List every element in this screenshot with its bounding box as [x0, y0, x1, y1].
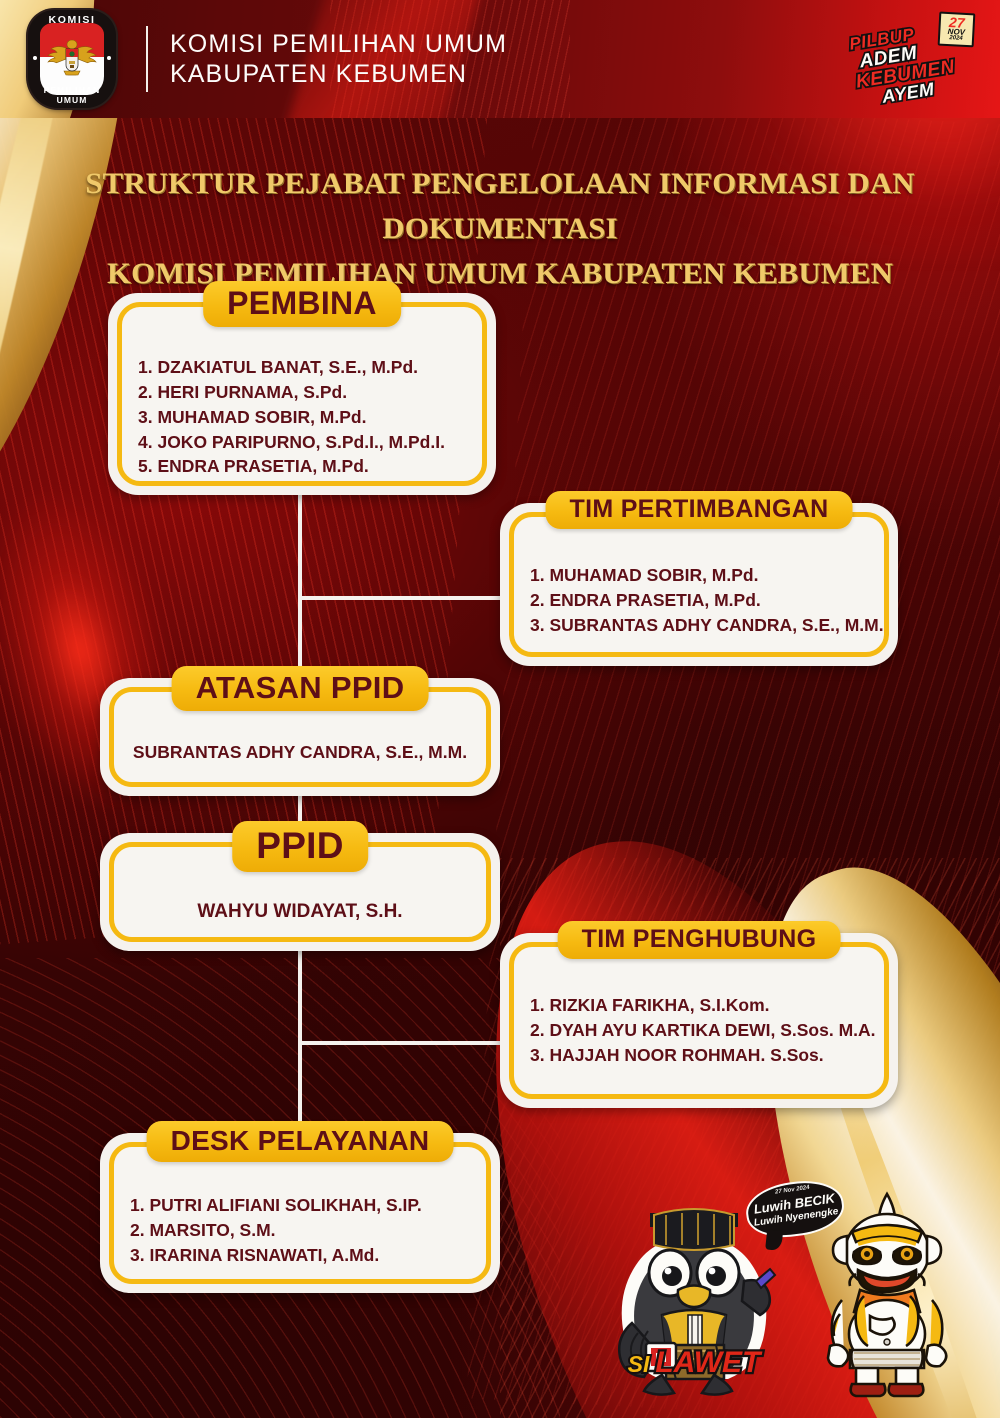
member-row: 5. ENDRA PRASETIA, M.Pd. [138, 454, 466, 479]
header-title-line1: KOMISI PEMILIHAN UMUM [170, 29, 507, 60]
node-tim-pertimbangan-label: TIM PERTIMBANGAN [570, 495, 829, 524]
garuda-emblem-icon [46, 35, 98, 85]
node-tim-pertimbangan[interactable]: TIM PERTIMBANGAN 1. MUHAMAD SOBIR, M.Pd.… [500, 503, 898, 666]
member-row: 3. HAJJAH NOOR ROHMAH. S.Sos. [530, 1043, 868, 1068]
member-row: 2. ENDRA PRASETIA, M.Pd. [530, 588, 868, 613]
node-atasan-ppid-header: ATASAN PPID [172, 666, 429, 711]
node-ppid-members: WAHYU WIDAYAT, S.H. [114, 899, 486, 926]
header-divider [146, 26, 148, 92]
member-row: 2. DYAH AYU KARTIKA DEWI, S.Sos. M.A. [530, 1018, 868, 1043]
node-desk-pelayanan-members: 1. PUTRI ALIFIANI SOLIKHAH, S.IP. 2. MAR… [114, 1193, 486, 1268]
badge-year: 2024 [940, 35, 972, 43]
node-tim-pertimbangan-header: TIM PERTIMBANGAN [546, 491, 853, 529]
page-header: KOMISI PEMILIHAN UMUM KOMISI PEMILIHAN U… [0, 0, 1000, 118]
kpu-logo-top-text: KOMISI [28, 14, 116, 26]
node-ppid-header: PPID [232, 821, 368, 872]
node-tim-penghubung[interactable]: TIM PENGHUBUNG 1. RIZKIA FARIKHA, S.I.Ko… [500, 933, 898, 1108]
node-pembina-header: PEMBINA [203, 281, 401, 327]
header-title: KOMISI PEMILIHAN UMUM KABUPATEN KEBUMEN [170, 29, 507, 90]
lawet-name: LAWET [655, 1346, 760, 1379]
kpu-logo-icon: KOMISI PEMILIHAN UMUM [28, 10, 116, 108]
node-atasan-ppid[interactable]: ATASAN PPID SUBRANTAS ADHY CANDRA, S.E.,… [100, 678, 500, 796]
member-row: 4. JOKO PARIPURNO, S.Pd.I., M.Pd.I. [138, 430, 466, 455]
node-tim-penghubung-members: 1. RIZKIA FARIKHA, S.I.Kom. 2. DYAH AYU … [514, 993, 884, 1068]
node-atasan-ppid-members: SUBRANTAS ADHY CANDRA, S.E., M.M. [114, 740, 486, 765]
node-tim-penghubung-header: TIM PENGHUBUNG [558, 921, 841, 959]
page-title: STRUKTUR PEJABAT PENGELOLAAN INFORMASI D… [0, 162, 1000, 296]
node-atasan-ppid-label: ATASAN PPID [196, 670, 405, 706]
edge-ppid-penghubung [298, 1041, 504, 1045]
member-row: 3. IRARINA RISNAWATI, A.Md. [130, 1243, 470, 1268]
lawet-prefix: SI [628, 1351, 650, 1377]
page-title-line1: STRUKTUR PEJABAT PENGELOLAAN INFORMASI D… [0, 162, 1000, 252]
node-desk-pelayanan-label: DESK PELAYANAN [171, 1125, 430, 1157]
node-pembina[interactable]: PEMBINA 1. DZAKIATUL BANAT, S.E., M.Pd. … [108, 293, 496, 495]
member-row: 1. PUTRI ALIFIANI SOLIKHAH, S.IP. [130, 1193, 470, 1218]
node-desk-pelayanan-header: DESK PELAYANAN [147, 1121, 454, 1162]
member-row: 1. MUHAMAD SOBIR, M.Pd. [530, 563, 868, 588]
node-desk-pelayanan[interactable]: DESK PELAYANAN 1. PUTRI ALIFIANI SOLIKHA… [100, 1133, 500, 1293]
kpu-logo-dot-left [33, 56, 37, 60]
header-title-line2: KABUPATEN KEBUMEN [170, 59, 507, 90]
kpu-logo-bottom-text: PEMILIHAN UMUM [28, 85, 116, 105]
kpu-logo-dot-right [107, 56, 111, 60]
node-tim-penghubung-label: TIM PENGHUBUNG [582, 925, 817, 954]
member-row: 2. MARSITO, S.M. [130, 1218, 470, 1243]
member-row: WAHYU WIDAYAT, S.H. [130, 899, 470, 926]
edge-pembina-atasan [298, 493, 302, 683]
member-row: 3. MUHAMAD SOBIR, M.Pd. [138, 405, 466, 430]
member-row: 3. SUBRANTAS ADHY CANDRA, S.E., M.M. [530, 613, 868, 638]
node-pembina-label: PEMBINA [227, 285, 377, 322]
member-row: 1. RIZKIA FARIKHA, S.I.Kom. [530, 993, 868, 1018]
member-row: 2. HERI PURNAMA, S.Pd. [138, 380, 466, 405]
member-row: SUBRANTAS ADHY CANDRA, S.E., M.M. [130, 740, 470, 765]
page-title-line2: KOMISI PEMILIHAN UMUM KABUPATEN KEBUMEN [0, 252, 1000, 297]
node-ppid-label: PPID [256, 825, 344, 867]
member-row: 1. DZAKIATUL BANAT, S.E., M.Pd. [138, 355, 466, 380]
pilbup-campaign-logo: PILBUP ADEM KEBUMEN AYEM 27 NOV 2024 [848, 15, 979, 107]
node-pembina-members: 1. DZAKIATUL BANAT, S.E., M.Pd. 2. HERI … [122, 355, 482, 479]
edge-pembina-pertimbangan [298, 596, 504, 600]
node-tim-pertimbangan-members: 1. MUHAMAD SOBIR, M.Pd. 2. ENDRA PRASETI… [514, 563, 884, 638]
node-ppid[interactable]: PPID WAHYU WIDAYAT, S.H. [100, 833, 500, 951]
election-date-badge: 27 NOV 2024 [938, 12, 976, 48]
si-lawet-wordmark: SILAWET [604, 1346, 784, 1380]
